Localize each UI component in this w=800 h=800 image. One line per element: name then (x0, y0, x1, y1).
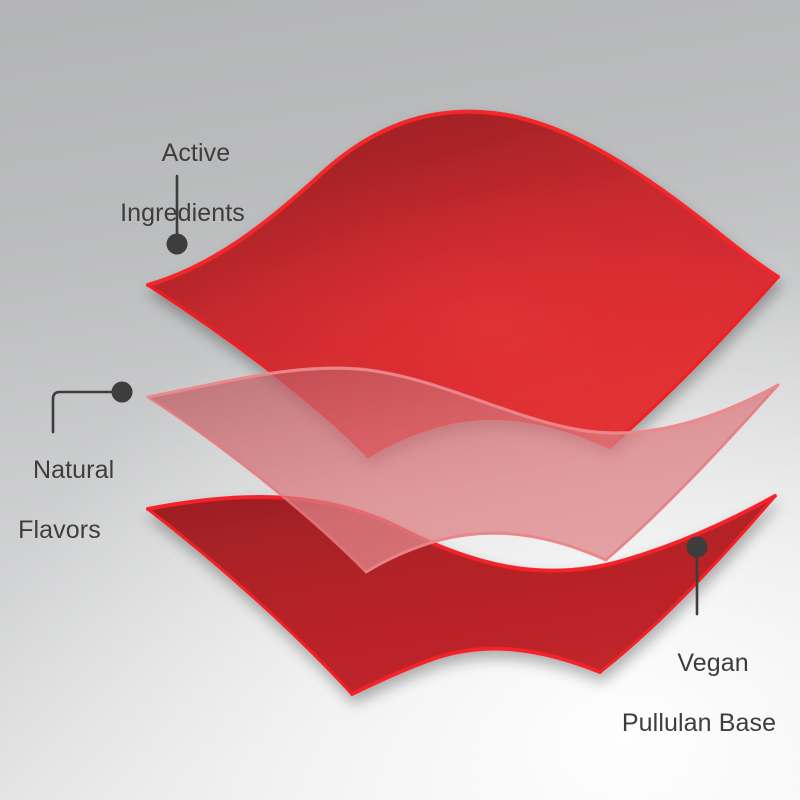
label-vegan-pullulan-base-line2: Pullulan Base (600, 708, 798, 738)
label-active-ingredients-line2: Ingredients (90, 198, 275, 228)
label-natural-flavors-line2: Flavors (2, 515, 117, 545)
label-natural-flavors-line1: Natural (33, 456, 114, 484)
label-vegan-pullulan-base-line1: Vegan (677, 649, 748, 677)
diagram-canvas: Active Ingredients Natural Flavors Vegan… (0, 0, 800, 800)
label-active-ingredients[interactable]: Active Ingredients (90, 108, 275, 288)
callout-dot-natural-flavors (112, 382, 133, 403)
label-natural-flavors[interactable]: Natural Flavors (2, 425, 117, 605)
label-vegan-pullulan-base[interactable]: Vegan Pullulan Base (600, 618, 798, 798)
label-active-ingredients-line1: Active (162, 139, 231, 167)
callout-dot-vegan-pullulan-base (687, 537, 708, 558)
